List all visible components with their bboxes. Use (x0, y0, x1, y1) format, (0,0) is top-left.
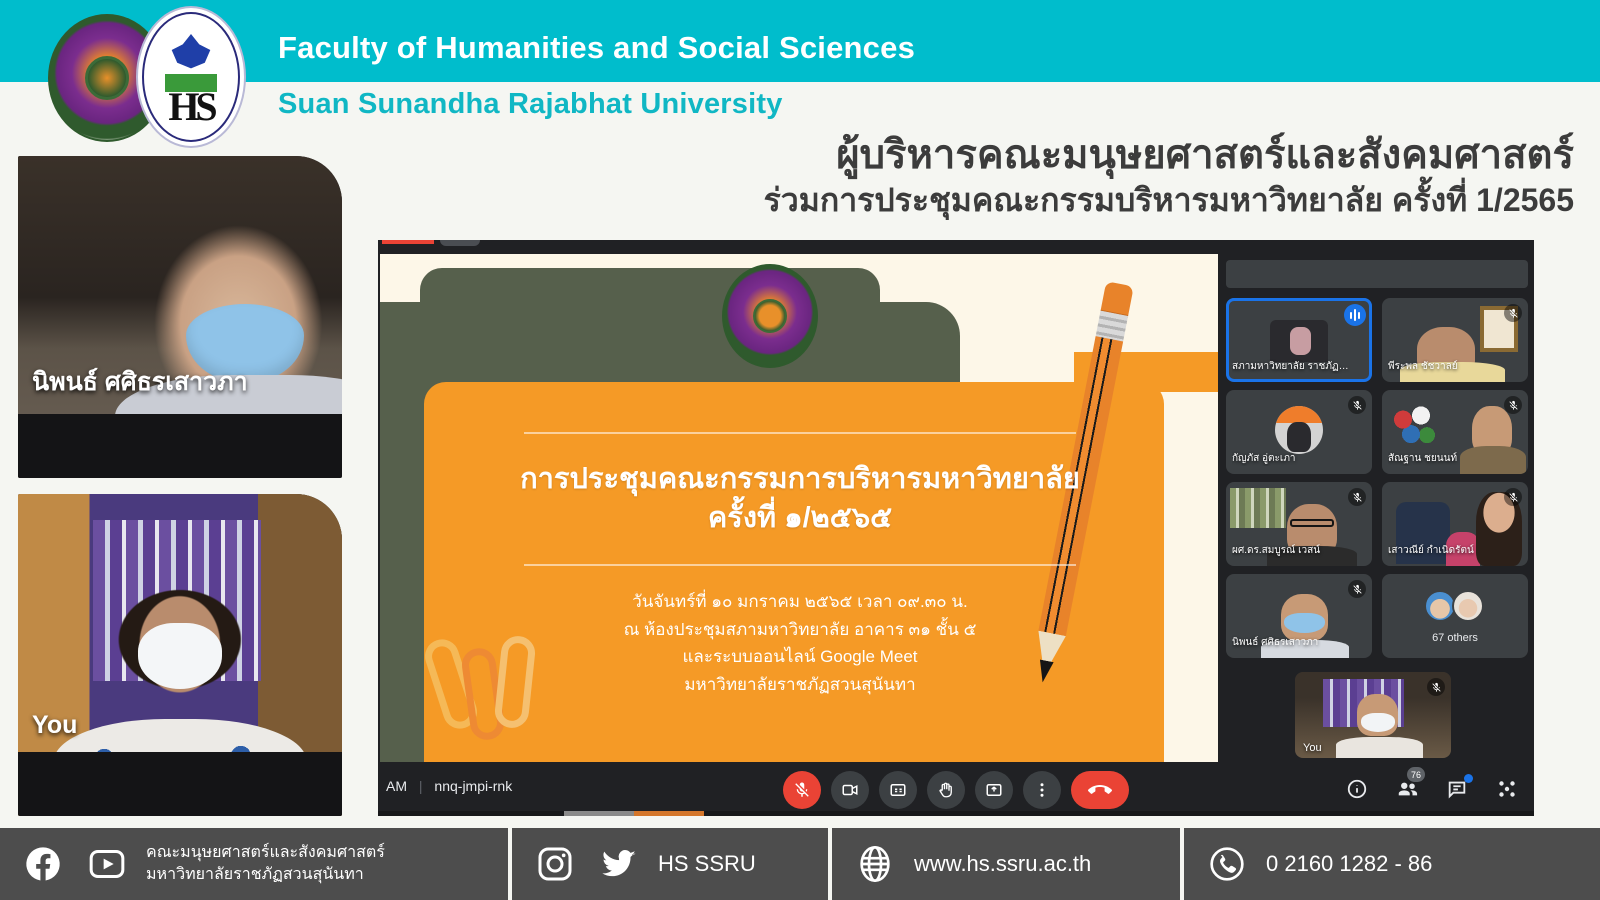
participant-tile-others[interactable]: 67 others (1382, 574, 1528, 658)
video-panel-name: นิพนธ์ ศศิธรเสาวภา (32, 362, 248, 402)
youtube-icon[interactable] (86, 843, 128, 885)
captions-icon[interactable] (879, 771, 917, 809)
participant-tile[interactable]: นิพนธ์ ศศิธรเสาวภา (1226, 574, 1372, 658)
video-panel-self[interactable]: You (18, 494, 342, 816)
footer-text-line2: มหาวิทยาลัยราชภัฏสวนสุนันทา (146, 864, 385, 886)
more-options-icon[interactable] (1023, 771, 1061, 809)
chat-icon[interactable] (1444, 776, 1470, 802)
footer: คณะมนุษยศาสตร์และสังคมศาสตร์ มหาวิทยาลัย… (0, 828, 1600, 900)
footer-cell-phone: 0 2160 1282 - 86 (1184, 828, 1600, 900)
video-panel-speaker[interactable]: นิพนธ์ ศศิธรเสาวภา (18, 156, 342, 478)
slide-divider-top (524, 432, 1076, 434)
participant-tile[interactable]: เสาวณีย์ กำเนิดรัตน์ (1382, 482, 1528, 566)
phone-icon[interactable] (1206, 843, 1248, 885)
participant-name: นิพนธ์ ศศิธรเสาวภา (1232, 635, 1350, 650)
slide-heading-line1: การประชุมคณะกรรมการบริหารมหาวิทยาลัย (490, 460, 1110, 499)
others-count-label: 67 others (1382, 632, 1528, 644)
microphone-off-icon (1427, 678, 1445, 696)
footer-social-handle: HS SSRU (658, 849, 756, 879)
footer-text-faculty: คณะมนุษยศาสตร์และสังคมศาสตร์ มหาวิทยาลัย… (146, 842, 385, 885)
end-call-icon[interactable] (1071, 771, 1129, 809)
footer-cell-instagram-twitter: HS SSRU (512, 828, 828, 900)
instagram-icon[interactable] (534, 843, 576, 885)
meet-secondary-controls: 76 (1344, 776, 1520, 802)
participant-tile[interactable]: กัญภัส อู่ตะเภา (1226, 390, 1372, 474)
progress-segment-gray (564, 811, 634, 816)
divider: | (419, 778, 423, 794)
facebook-icon[interactable] (22, 843, 64, 885)
slide-body-line-3: และระบบออนไลน์ Google Meet (490, 643, 1110, 671)
speaking-indicator-icon (1344, 304, 1366, 326)
scroll-progress-bar[interactable] (378, 811, 1534, 816)
footer-phone-number: 0 2160 1282 - 86 (1266, 849, 1432, 879)
microphone-off-icon (1504, 488, 1522, 506)
slide-body-line-2: ณ ห้องประชุมสภามหาวิทยาลัย อาคาร ๓๑ ชั้น… (490, 616, 1110, 644)
slide-heading-line2: ครั้งที่ ๑/๒๕๖๕ (490, 499, 1110, 538)
progress-segment-orange (634, 811, 704, 816)
raise-hand-icon[interactable] (927, 771, 965, 809)
microphone-off-icon (1348, 488, 1366, 506)
self-view-label: You (1303, 742, 1322, 754)
footer-website-url[interactable]: www.hs.ssru.ac.th (914, 849, 1091, 879)
self-view-tile[interactable]: You (1295, 672, 1451, 758)
footer-text-line1: คณะมนุษยศาสตร์และสังคมศาสตร์ (146, 842, 385, 864)
microphone-off-icon (1348, 396, 1366, 414)
browser-top-strip (378, 240, 1534, 254)
university-logos: HS (48, 6, 274, 138)
page-title-line1: ผู้บริหารคณะมนุษยศาสตร์และสังคมศาสตร์ (836, 133, 1574, 177)
chat-unread-dot (1464, 774, 1473, 783)
shared-screen-stage[interactable]: การประชุมคณะกรรมการบริหารมหาวิทยาลัย ครั… (380, 254, 1218, 762)
humanities-social-sciences-seal-icon: HS (136, 6, 246, 148)
people-count-badge: 76 (1407, 767, 1425, 782)
participant-name: สัณฐาน ชยนนท์ (1388, 451, 1506, 466)
page-root: HS Faculty of Humanities and Social Scie… (0, 0, 1600, 900)
meeting-time: AM (386, 778, 407, 794)
participant-tile[interactable]: สัณฐาน ชยนนท์ (1382, 390, 1528, 474)
participant-name: ผศ.ดร.สมบูรณ์ เวสน์ (1232, 543, 1350, 558)
microphone-off-icon (1504, 304, 1522, 322)
microphone-off-icon[interactable] (783, 771, 821, 809)
meeting-details-icon[interactable] (1344, 776, 1370, 802)
meet-primary-controls (783, 771, 1129, 809)
participant-tile[interactable]: พีระพล ชัชวาลย์ (1382, 298, 1528, 382)
slide-body-line-1: วันจันทร์ที่ ๑๐ มกราคม ๒๕๖๕ เวลา ๐๙.๓๐ น… (490, 588, 1110, 616)
meeting-code: nnq-jmpi-rnk (434, 778, 512, 794)
sidebar-top-bar (1226, 260, 1528, 288)
participant-name: เสาวณีย์ กำเนิดรัตน์ (1388, 543, 1506, 558)
video-panel-name: You (32, 711, 77, 740)
participant-name: กัญภัส อู่ตะเภา (1232, 451, 1350, 466)
microphone-off-icon (1348, 580, 1366, 598)
participant-name: สภามหาวิทยาลัย ราชภัฏสว... (1232, 359, 1350, 374)
video-panel-letterbox (18, 414, 342, 478)
footer-cell-website: www.hs.ssru.ac.th (832, 828, 1180, 900)
participant-tile[interactable]: สภามหาวิทยาลัย ราชภัฏสว... (1226, 298, 1372, 382)
ssru-seal-icon (722, 264, 818, 368)
camera-icon[interactable] (831, 771, 869, 809)
meet-control-bar: AM | nnq-jmpi-rnk (378, 762, 1534, 816)
faculty-name: Faculty of Humanities and Social Science… (278, 30, 915, 66)
people-icon[interactable]: 76 (1394, 776, 1420, 802)
activities-icon[interactable] (1494, 776, 1520, 802)
slide-body-line-4: มหาวิทยาลัยราชภัฏสวนสุนันทา (490, 671, 1110, 699)
twitter-icon[interactable] (598, 843, 640, 885)
participant-tile[interactable]: ผศ.ดร.สมบูรณ์ เวสน์ (1226, 482, 1372, 566)
page-title-line2: ร่วมการประชุมคณะกรรมบริหารมหาวิทยาลัย คร… (764, 182, 1574, 219)
avatar (1452, 590, 1484, 622)
footer-cell-facebook-youtube: คณะมนุษยศาสตร์และสังคมศาสตร์ มหาวิทยาลัย… (0, 828, 508, 900)
meeting-info: AM | nnq-jmpi-rnk (386, 778, 512, 794)
globe-icon[interactable] (854, 843, 896, 885)
microphone-off-icon (1504, 396, 1522, 414)
university-name: Suan Sunandha Rajabhat University (278, 88, 783, 121)
slide-text-block: การประชุมคณะกรรมการบริหารมหาวิทยาลัย ครั… (490, 432, 1110, 698)
present-screen-icon[interactable] (975, 771, 1013, 809)
participant-name: พีระพล ชัชวาลย์ (1388, 359, 1506, 374)
slide-divider-bottom (524, 564, 1076, 566)
video-panel-letterbox (18, 752, 342, 816)
